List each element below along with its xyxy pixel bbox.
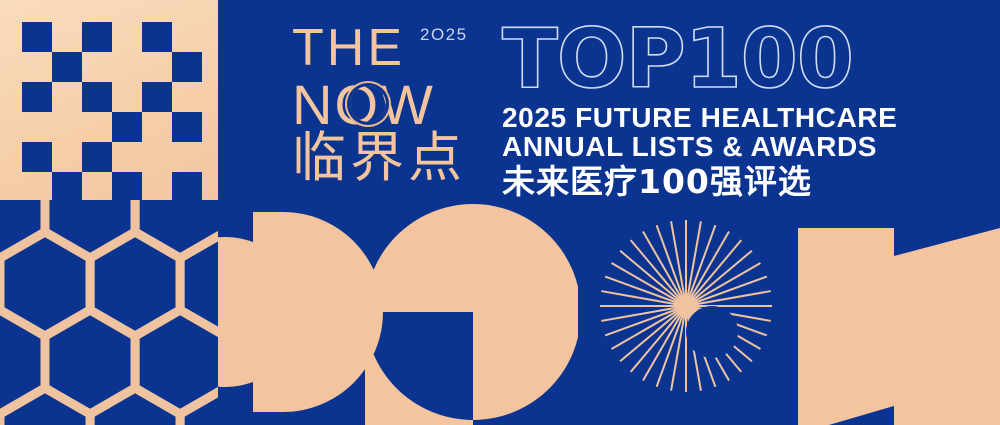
gold-orb-icon <box>350 86 386 122</box>
logo-line-the: THE 2O25 <box>292 22 492 74</box>
logo-the-text: THE <box>292 22 405 74</box>
checker-cell <box>172 52 202 82</box>
logo-chinese-text: 临界点 <box>292 130 466 186</box>
checker-cell <box>82 82 112 112</box>
checker-cell <box>52 52 82 82</box>
checker-cell <box>52 172 82 200</box>
banner-root: THE 2O25 NOW 临界点 TOP100 2025 FUTURE HEAL… <box>0 0 1000 425</box>
circle-shapes-svg <box>218 200 578 425</box>
starburst-rays-group <box>600 220 772 392</box>
checker-cell <box>82 142 112 172</box>
notched-circle-shape <box>365 204 578 425</box>
decor-bottom-row <box>0 200 1000 425</box>
hexagon-cell <box>135 200 218 258</box>
checkerboard-pattern <box>0 0 218 200</box>
hexagon-lattice-svg <box>0 200 218 425</box>
checker-cell <box>112 112 142 142</box>
diagonal-stripe-pattern <box>788 200 1000 425</box>
checker-cell <box>172 172 202 200</box>
hexagon-cell <box>45 200 135 258</box>
checker-cell <box>22 22 52 52</box>
hexagon-cell <box>90 388 180 425</box>
checker-cell <box>142 82 172 112</box>
subtitle-cn: 未来医疗100强评选 <box>502 163 962 201</box>
checker-cell <box>142 22 172 52</box>
title-block: TOP100 2025 FUTURE HEALTHCARE ANNUAL LIS… <box>502 20 962 201</box>
starburst-pattern <box>578 200 788 425</box>
checker-cell <box>112 172 142 200</box>
hexagon-cell <box>0 388 90 425</box>
checker-cell <box>22 142 52 172</box>
starburst-core <box>686 306 738 358</box>
half-disc-shape <box>253 212 383 412</box>
hexagon-cell <box>180 388 218 425</box>
starburst-ray <box>600 305 686 307</box>
headline-top100: TOP100 <box>502 20 962 100</box>
logo-year-text: 2O25 <box>420 26 468 43</box>
diagonal-stripe-svg <box>788 200 1000 425</box>
checker-cell <box>22 82 52 112</box>
checker-cell <box>82 22 112 52</box>
subtitle-en-line1: 2025 FUTURE HEALTHCARE <box>502 103 962 132</box>
stripes-right-half <box>894 228 1000 425</box>
subtitle-en-line2: ANNUAL LISTS & AWARDS <box>502 132 962 161</box>
checker-cell <box>172 112 202 142</box>
hexagon-lattice-pattern <box>0 200 218 425</box>
stripes-left-half <box>798 228 894 425</box>
brand-logo: THE 2O25 NOW 临界点 <box>292 22 492 192</box>
circle-shapes-pattern <box>218 200 578 425</box>
